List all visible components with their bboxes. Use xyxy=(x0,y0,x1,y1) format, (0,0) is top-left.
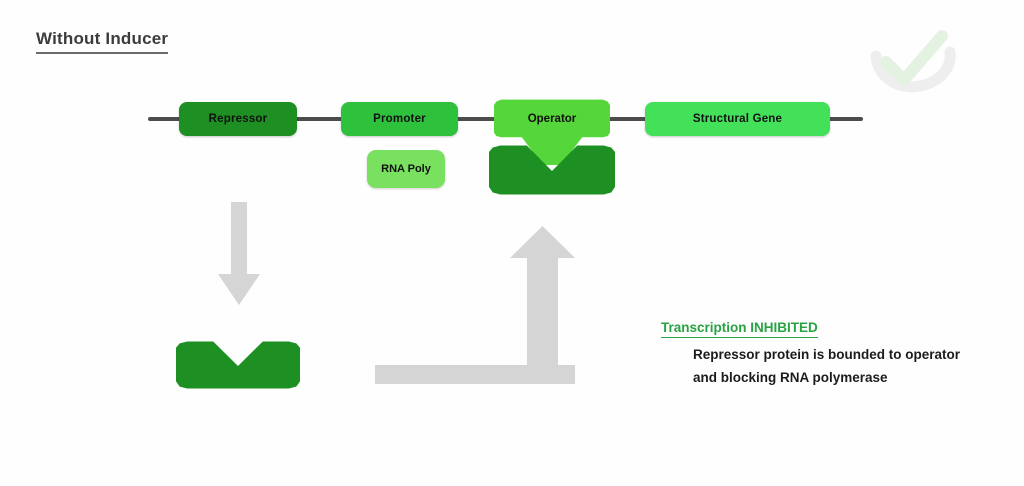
conclusion-line-2: and blocking RNA polymerase xyxy=(693,366,1001,389)
gene-box-structural-gene[interactable]: Structural Gene xyxy=(645,102,830,136)
operator-label: Operator xyxy=(494,102,610,136)
transcription-status-badge: Transcription INHIBITED xyxy=(661,320,818,338)
arrow-elbow-up-icon xyxy=(375,226,575,384)
gene-box-promoter[interactable]: Promoter xyxy=(341,102,458,136)
diagram-canvas: Without Inducer Repressor Promoter Struc… xyxy=(0,0,1024,486)
repressor-protein-free[interactable] xyxy=(176,341,300,389)
conclusion-block: Transcription INHIBITED Repressor protei… xyxy=(661,319,1001,389)
gene-box-repressor[interactable]: Repressor xyxy=(179,102,297,136)
check-swoosh-watermark-icon xyxy=(858,22,966,94)
arrow-down-icon xyxy=(214,202,264,307)
conclusion-body: Repressor protein is bounded to operator… xyxy=(661,343,1001,389)
rna-polymerase-box[interactable]: RNA Poly xyxy=(367,150,445,188)
conclusion-line-1: Repressor protein is bounded to operator xyxy=(693,343,1001,366)
page-title: Without Inducer xyxy=(36,30,168,54)
